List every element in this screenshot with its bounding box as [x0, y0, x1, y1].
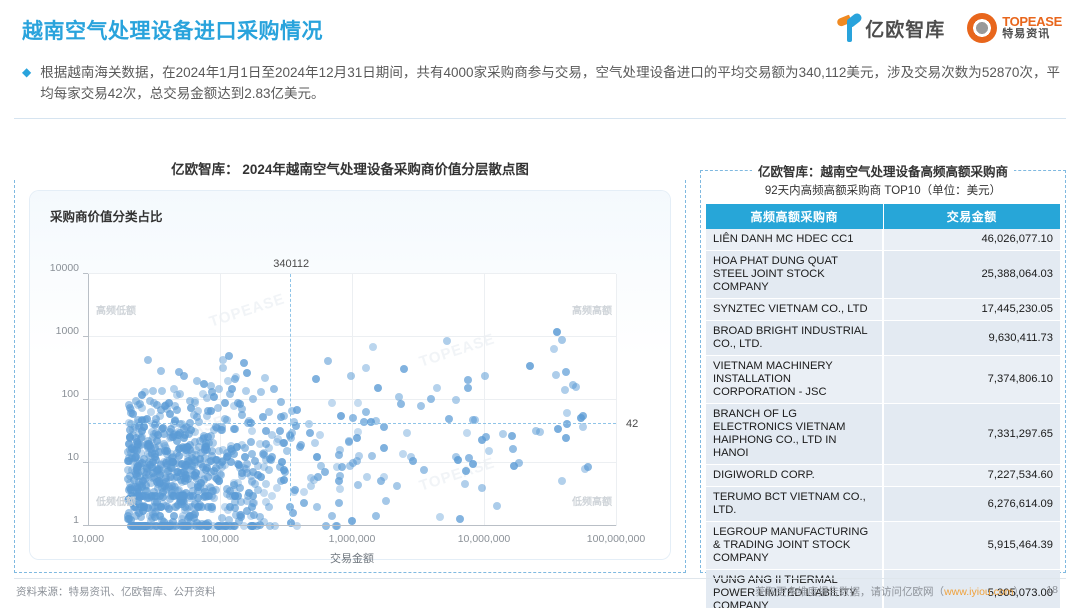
scatter-point	[256, 513, 264, 521]
table-row: VIETNAM MACHINERY INSTALLATION CORPORATI…	[706, 356, 1060, 404]
cell-amount: 6,276,614.09	[883, 487, 1060, 522]
y-axis-tick-label: 10000	[50, 262, 79, 274]
scatter-point	[561, 386, 569, 394]
scatter-point	[268, 492, 276, 500]
scatter-point	[333, 463, 341, 471]
header: 越南空气处理设备进口采购情况 亿欧智库 TOPEASE 特易资讯	[0, 0, 1080, 56]
cell-buyer-name: DIGIWORLD CORP.	[706, 465, 883, 487]
scatter-point	[221, 399, 229, 407]
scatter-point	[200, 475, 208, 483]
scatter-point	[454, 456, 462, 464]
scatter-point	[369, 343, 377, 351]
scatter-point	[380, 444, 388, 452]
scatter-point	[243, 469, 251, 477]
scatter-point	[170, 492, 178, 500]
scatter-point	[182, 446, 190, 454]
scatter-point	[268, 431, 276, 439]
scatter-point	[554, 425, 562, 433]
scatter-point	[157, 522, 165, 530]
scatter-point	[526, 362, 534, 370]
scatter-point	[231, 425, 239, 433]
scatter-plot: TOPEASE TOPEASE TOPEASE TOPEASE 10,00010…	[88, 274, 616, 526]
topease-logo-en: TOPEASE	[1002, 15, 1062, 29]
scatter-point	[149, 387, 157, 395]
page-title: 越南空气处理设备进口采购情况	[22, 15, 323, 45]
scatter-point	[354, 399, 362, 407]
scatter-point	[563, 409, 571, 417]
scatter-point	[257, 388, 265, 396]
x-axis-tick-label: 10,000,000	[458, 533, 511, 545]
scatter-point	[403, 429, 411, 437]
scatter-point	[240, 522, 248, 530]
scatter-point	[176, 390, 184, 398]
table-row: BRANCH OF LG ELECTRONICS VIETNAM HAIPHON…	[706, 404, 1060, 465]
scatter-point	[362, 408, 370, 416]
y-gridline	[88, 273, 616, 274]
scatter-point	[219, 364, 227, 372]
scatter-point	[409, 457, 417, 465]
scatter-point	[256, 440, 264, 448]
reference-line-avg-amount-label: 340112	[273, 258, 309, 270]
scatter-point	[563, 420, 571, 428]
scatter-point	[265, 408, 273, 416]
scatter-point	[241, 444, 249, 452]
scatter-point	[493, 502, 501, 510]
scatter-point	[353, 434, 361, 442]
scatter-point	[336, 485, 344, 493]
scatter-point	[141, 388, 149, 396]
scatter-point	[192, 522, 200, 530]
scatter-point	[214, 522, 222, 530]
scatter-point	[133, 447, 141, 455]
scatter-point	[138, 427, 146, 435]
scatter-point	[251, 457, 259, 465]
scatter-point	[374, 384, 382, 392]
scatter-point	[219, 457, 227, 465]
scatter-point	[243, 369, 251, 377]
scatter-point	[322, 522, 330, 530]
scatter-point	[347, 372, 355, 380]
scatter-point	[456, 515, 464, 523]
scatter-point	[156, 492, 164, 500]
scatter-point	[345, 438, 353, 446]
scatter-point	[335, 499, 343, 507]
iyiou-logo-text: 亿欧智库	[865, 15, 945, 42]
scatter-point	[160, 440, 168, 448]
scatter-point	[249, 492, 257, 500]
scatter-point	[362, 364, 370, 372]
scatter-point	[313, 453, 321, 461]
scatter-point	[236, 511, 244, 519]
scatter-point	[485, 447, 493, 455]
more-info-note: 获取更多维度报告数据，请访问亿欧网（www.iyiou.com）	[755, 584, 1024, 599]
scatter-point	[481, 372, 489, 380]
x-gridline	[220, 274, 221, 526]
top10-table: 高频高额采购商 交易金额 LIÊN DANH MC HDEC CC146,026…	[706, 204, 1060, 608]
scatter-point	[158, 387, 166, 395]
scatter-point	[550, 345, 558, 353]
table-row: TERUMO BCT VIETNAM CO., LTD.6,276,614.09	[706, 487, 1060, 522]
scatter-point	[465, 454, 473, 462]
scatter-point	[462, 467, 470, 475]
scatter-point	[181, 431, 189, 439]
scatter-point	[532, 427, 540, 435]
quadrant-label-low-freq-high-amount: 低频高额	[572, 493, 612, 508]
x-axis-line	[88, 525, 616, 526]
scatter-point	[508, 432, 516, 440]
scatter-point	[126, 404, 134, 412]
scatter-point	[372, 512, 380, 520]
scatter-point	[312, 375, 320, 383]
table-row: HOA PHAT DUNG QUAT STEEL JOINT STOCK COM…	[706, 251, 1060, 299]
scatter-point	[218, 514, 226, 522]
scatter-panel-title: 亿欧智库： 2024年越南空气处理设备采购商价值分层散点图	[14, 161, 686, 179]
scatter-point	[150, 399, 158, 407]
top10-panel-subtitle: 92天内高频高额采购商 TOP10（单位：美元）	[700, 182, 1066, 198]
scatter-point	[260, 463, 268, 471]
cell-amount: 9,630,411.73	[883, 321, 1060, 356]
y-axis-line	[88, 274, 89, 526]
scatter-point	[140, 503, 148, 511]
scatter-point	[217, 471, 225, 479]
column-header-buyer: 高频高额采购商	[706, 204, 883, 229]
scatter-point	[207, 484, 215, 492]
scatter-point	[233, 443, 241, 451]
scatter-point	[235, 461, 243, 469]
scatter-point	[126, 472, 134, 480]
cell-buyer-name: TERUMO BCT VIETNAM CO., LTD.	[706, 487, 883, 522]
scatter-point	[280, 412, 288, 420]
scatter-point	[167, 425, 175, 433]
scatter-point	[191, 510, 199, 518]
diamond-bullet-icon: ◆	[22, 62, 31, 104]
scatter-point	[349, 414, 357, 422]
scatter-point	[170, 512, 178, 520]
scatter-point	[208, 492, 216, 500]
quadrant-label-high-freq-low-amount: 高频低额	[96, 302, 136, 317]
scatter-point	[562, 434, 570, 442]
scatter-point	[154, 503, 162, 511]
table-header-row: 高频高额采购商 交易金额	[706, 204, 1060, 229]
scatter-point	[420, 466, 428, 474]
scatter-point	[241, 453, 249, 461]
scatter-point	[436, 513, 444, 521]
scatter-point	[515, 459, 523, 467]
scatter-point	[242, 387, 250, 395]
cell-buyer-name: LEGROUP MANUFACTURING & TRADING JOINT ST…	[706, 522, 883, 570]
table-row: DIGIWORLD CORP.7,227,534.60	[706, 465, 1060, 487]
source-note: 资料来源：特易资讯、亿欧智库、公开资料	[16, 584, 216, 599]
scatter-point	[579, 412, 587, 420]
scatter-point	[311, 439, 319, 447]
scatter-point	[227, 522, 235, 530]
scatter-point	[240, 359, 248, 367]
scatter-point	[581, 465, 589, 473]
scatter-point	[464, 376, 472, 384]
scatter-point	[360, 418, 368, 426]
scatter-point	[207, 503, 215, 511]
scatter-point	[363, 473, 371, 481]
scatter-point	[353, 457, 361, 465]
iyiou-sprout-icon	[836, 13, 862, 43]
iyiou-website-link[interactable]: www.iyiou.com	[944, 586, 1013, 598]
header-divider	[14, 118, 1066, 119]
scatter-point	[249, 395, 257, 403]
scatter-point	[156, 412, 164, 420]
scatter-point	[499, 430, 507, 438]
scatter-point	[226, 390, 234, 398]
reference-line-avg-frequency-label: 42	[626, 418, 638, 430]
scatter-point	[336, 472, 344, 480]
scatter-point	[183, 522, 191, 530]
y-gridline	[88, 336, 616, 337]
scatter-point	[180, 372, 188, 380]
x-axis-tick-label: 100,000,000	[587, 533, 645, 545]
table-row: LIÊN DANH MC HDEC CC146,026,077.10	[706, 229, 1060, 251]
table-row: BROAD BRIGHT INDUSTRIAL CO., LTD.9,630,4…	[706, 321, 1060, 356]
cell-amount: 17,445,230.05	[883, 299, 1060, 321]
scatter-point	[144, 356, 152, 364]
slide-page: 越南空气处理设备进口采购情况 亿欧智库 TOPEASE 特易资讯 ◆ 根据越南海…	[0, 0, 1080, 608]
scatter-point	[138, 482, 146, 490]
scatter-point	[382, 497, 390, 505]
scatter-point	[552, 371, 560, 379]
scatter-point	[277, 398, 285, 406]
more-info-suffix: ）	[1014, 586, 1025, 598]
scatter-point	[230, 402, 238, 410]
scatter-point	[316, 431, 324, 439]
cell-buyer-name: HOA PHAT DUNG QUAT STEEL JOINT STOCK COM…	[706, 251, 883, 299]
scatter-point	[207, 382, 215, 390]
scatter-point	[215, 447, 223, 455]
scatter-point	[262, 456, 270, 464]
summary-bullet: ◆ 根据越南海关数据，在2024年1月1日至2024年12月31日期间，共有40…	[22, 62, 1060, 104]
scatter-point	[254, 471, 262, 479]
scatter-point	[276, 463, 284, 471]
table-row: SYNZTEC VIETNAM CO., LTD17,445,230.05	[706, 299, 1060, 321]
cell-buyer-name: VIETNAM MACHINERY INSTALLATION CORPORATI…	[706, 356, 883, 404]
x-gridline	[352, 274, 353, 526]
scatter-point	[337, 412, 345, 420]
scatter-point	[155, 465, 163, 473]
scatter-point	[231, 492, 239, 500]
iyiou-logo: 亿欧智库	[836, 13, 945, 43]
scatter-point	[149, 433, 157, 441]
scatter-point	[138, 522, 146, 530]
cell-amount: 25,388,064.03	[883, 251, 1060, 299]
cell-amount: 7,227,534.60	[883, 465, 1060, 487]
scatter-point	[191, 428, 199, 436]
cell-amount: 7,331,297.65	[883, 404, 1060, 465]
cell-amount: 7,374,806.10	[883, 356, 1060, 404]
scatter-point	[324, 357, 332, 365]
cell-buyer-name: LIÊN DANH MC HDEC CC1	[706, 229, 883, 251]
scatter-point	[127, 522, 135, 530]
scatter-point	[134, 469, 142, 477]
scatter-point	[572, 383, 580, 391]
quadrant-label-low-freq-low-amount: 低频低额	[96, 493, 136, 508]
scatter-point	[232, 373, 240, 381]
scatter-point	[191, 397, 199, 405]
scatter-point	[276, 427, 284, 435]
scatter-point	[399, 450, 407, 458]
scatter-point	[417, 402, 425, 410]
scatter-point	[261, 374, 269, 382]
scatter-point	[238, 405, 246, 413]
scatter-point	[135, 492, 143, 500]
scatter-point	[509, 445, 517, 453]
top10-table-wrap: 高频高额采购商 交易金额 LIÊN DANH MC HDEC CC146,026…	[706, 204, 1060, 608]
scatter-point	[348, 517, 356, 525]
x-axis-tick-label: 1,000,000	[329, 533, 376, 545]
scatter-point	[368, 452, 376, 460]
scatter-point	[313, 503, 321, 511]
cell-buyer-name: BRANCH OF LG ELECTRONICS VIETNAM HAIPHON…	[706, 404, 883, 465]
more-info-prefix: 获取更多维度报告数据，请访问亿欧网（	[755, 586, 944, 598]
column-header-amount: 交易金额	[883, 204, 1060, 229]
scatter-point	[210, 393, 218, 401]
scatter-point	[306, 429, 314, 437]
scatter-point	[193, 377, 201, 385]
scatter-point	[328, 512, 336, 520]
scatter-point	[205, 458, 213, 466]
scatter-point	[188, 454, 196, 462]
scatter-card-title: 采购商价值分类占比	[50, 206, 163, 225]
scatter-point	[221, 415, 229, 423]
x-axis-tick-label: 10,000	[72, 533, 104, 545]
scatter-point	[125, 454, 133, 462]
scatter-point	[225, 352, 233, 360]
scatter-point	[177, 492, 185, 500]
scatter-point	[227, 458, 235, 466]
scatter-point	[173, 406, 181, 414]
scatter-point	[297, 441, 305, 449]
scatter-point	[248, 503, 256, 511]
scatter-point	[354, 481, 362, 489]
y-axis-tick-label: 1	[73, 514, 79, 526]
scatter-point	[191, 472, 199, 480]
scatter-point	[162, 459, 170, 467]
cell-buyer-name: SYNZTEC VIETNAM CO., LTD	[706, 299, 883, 321]
scatter-point	[558, 477, 566, 485]
topease-logo-cn: 特易资讯	[1002, 29, 1062, 41]
scatter-point	[161, 402, 169, 410]
scatter-point	[380, 473, 388, 481]
scatter-point	[221, 503, 229, 511]
x-gridline	[616, 274, 617, 526]
cell-amount: 5,915,464.39	[883, 522, 1060, 570]
scatter-point	[249, 522, 257, 530]
scatter-point	[136, 400, 144, 408]
quadrant-label-high-freq-high-amount: 高频高额	[572, 302, 612, 317]
scatter-point	[461, 480, 469, 488]
scatter-point	[200, 380, 208, 388]
scatter-point	[443, 337, 451, 345]
scatter-point	[153, 478, 161, 486]
scatter-point	[136, 460, 144, 468]
scatter-point	[193, 413, 201, 421]
scatter-point	[158, 425, 166, 433]
scatter-point	[478, 484, 486, 492]
table-row: LEGROUP MANUFACTURING & TRADING JOINT ST…	[706, 522, 1060, 570]
scatter-point	[393, 482, 401, 490]
scatter-point	[262, 480, 270, 488]
scatter-point	[558, 336, 566, 344]
y-axis-tick-label: 10	[67, 451, 79, 463]
topease-ring-icon	[967, 13, 997, 43]
x-axis-title: 交易金额	[330, 550, 374, 566]
scatter-point	[273, 484, 281, 492]
cell-buyer-name: BROAD BRIGHT INDUSTRIAL CO., LTD.	[706, 321, 883, 356]
scatter-point	[202, 439, 210, 447]
topease-logo: TOPEASE 特易资讯	[967, 13, 1062, 43]
scatter-point	[157, 367, 165, 375]
scatter-point	[427, 395, 435, 403]
scatter-point	[397, 400, 405, 408]
scatter-point	[265, 503, 273, 511]
scatter-point	[189, 492, 197, 500]
scatter-point	[224, 377, 232, 385]
scatter-point	[433, 384, 441, 392]
scatter-point	[203, 394, 211, 402]
scatter-point	[553, 328, 561, 336]
scatter-point	[293, 522, 301, 530]
scatter-point	[185, 503, 193, 511]
scatter-point	[279, 439, 287, 447]
scatter-point	[335, 451, 343, 459]
scatter-point	[328, 399, 336, 407]
scatter-point	[291, 486, 299, 494]
page-number: 18	[1046, 584, 1058, 596]
y-axis-tick-label: 1000	[56, 325, 79, 337]
scatter-point	[464, 384, 472, 392]
reference-line-avg-amount: 340112	[290, 274, 291, 526]
x-axis-tick-label: 100,000	[201, 533, 239, 545]
scatter-point	[243, 460, 251, 468]
y-axis-tick-label: 100	[61, 388, 79, 400]
scatter-point	[195, 503, 203, 511]
footer-divider	[14, 578, 1066, 579]
scatter-point	[146, 452, 154, 460]
top10-panel-title: 亿欧智库：越南空气处理设备高频高额采购商	[700, 161, 1066, 180]
scatter-point	[270, 385, 278, 393]
scatter-point	[482, 433, 490, 441]
scatter-point	[300, 499, 308, 507]
scatter-point	[271, 522, 279, 530]
scatter-point	[307, 482, 315, 490]
scatter-point	[562, 368, 570, 376]
scatter-point	[380, 423, 388, 431]
reference-line-avg-frequency: 42	[88, 423, 616, 424]
scatter-point	[248, 427, 256, 435]
scatter-point	[332, 522, 340, 530]
logo-group: 亿欧智库 TOPEASE 特易资讯	[836, 13, 1062, 43]
scatter-point	[463, 429, 471, 437]
scatter-point	[400, 365, 408, 373]
cell-amount: 46,026,077.10	[883, 229, 1060, 251]
scatter-point	[300, 488, 308, 496]
scatter-point	[173, 473, 181, 481]
scatter-point	[321, 468, 329, 476]
scatter-point	[171, 503, 179, 511]
scatter-point	[217, 426, 225, 434]
scatter-point	[280, 476, 288, 484]
scatter-point	[204, 407, 212, 415]
scatter-point	[178, 420, 186, 428]
scatter-point	[452, 396, 460, 404]
summary-text: 根据越南海关数据，在2024年1月1日至2024年12月31日期间，共有4000…	[40, 62, 1060, 104]
scatter-point	[166, 434, 174, 442]
